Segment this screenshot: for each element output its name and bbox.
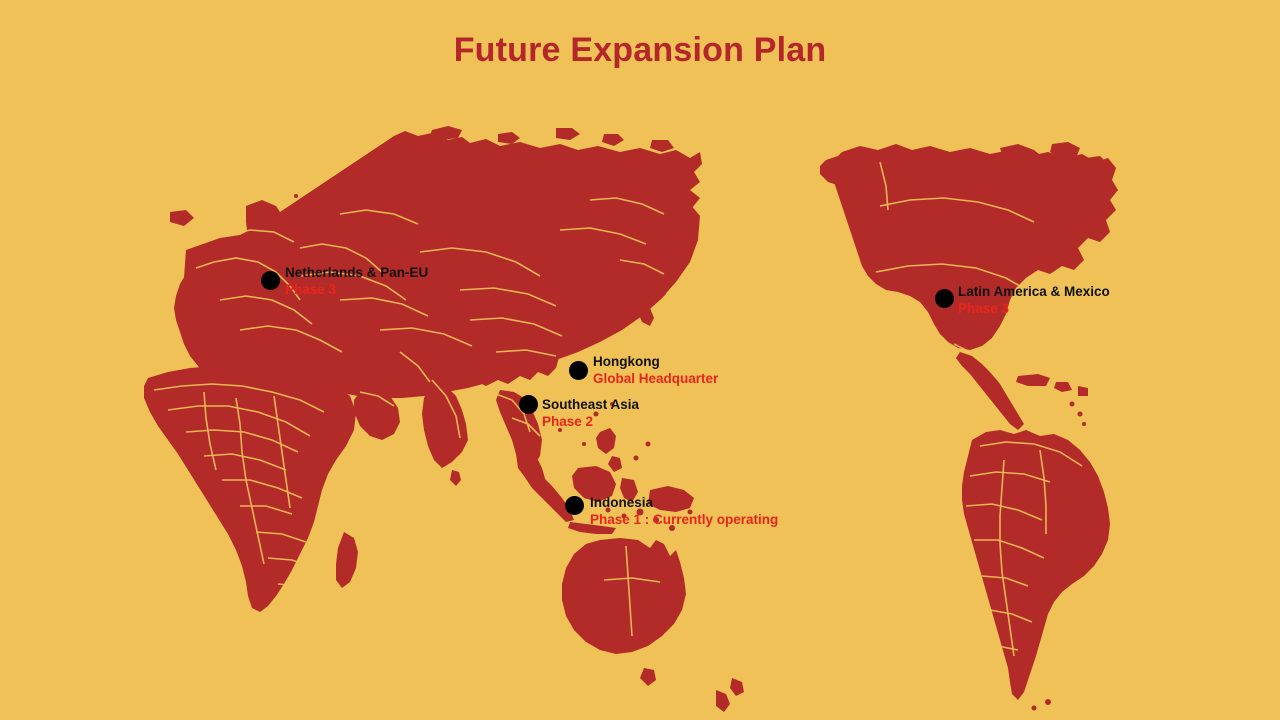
marker-sublabel: Phase 3 (285, 281, 428, 298)
marker-latin-america-mexico[interactable] (935, 289, 954, 308)
landmass-sumatra (524, 466, 574, 522)
marker-title: Indonesia (590, 494, 778, 511)
landmass-africa (144, 366, 356, 612)
island-dot (582, 442, 586, 446)
marker-label-southeast-asia: Southeast Asia Phase 2 (542, 396, 639, 430)
landmass-australia (562, 538, 686, 654)
marker-hongkong[interactable] (569, 361, 588, 380)
marker-netherlands-pan-eu[interactable] (261, 271, 280, 290)
marker-title: Netherlands & Pan-EU (285, 264, 428, 281)
landmass-newzealand (716, 678, 744, 712)
marker-label-hongkong: Hongkong Global Headquarter (593, 353, 718, 387)
marker-title: Southeast Asia (542, 396, 639, 413)
landmass-caribbean (1016, 374, 1088, 396)
island-dot (294, 194, 298, 198)
island-dot (386, 166, 390, 170)
island-dot (1070, 402, 1075, 407)
marker-sublabel: Global Headquarter (593, 370, 718, 387)
marker-label-latin-america-mexico: Latin America & Mexico Phase 3 (958, 283, 1110, 317)
marker-label-netherlands-pan-eu: Netherlands & Pan-EU Phase 3 (285, 264, 428, 298)
marker-title: Latin America & Mexico (958, 283, 1110, 300)
marker-sublabel: Phase 1 : Currently operating (590, 511, 778, 528)
island-dot (634, 456, 639, 461)
marker-sublabel: Phase 2 (542, 413, 639, 430)
landmass-central-america (956, 352, 1024, 430)
slide-canvas: Future Expansion Plan (0, 0, 1280, 720)
marker-sublabel: Phase 3 (958, 300, 1110, 317)
marker-indonesia[interactable] (565, 496, 584, 515)
marker-title: Hongkong (593, 353, 718, 370)
island-dot (1045, 699, 1051, 705)
island-dot (1082, 422, 1086, 426)
landmass-iceland (170, 210, 194, 226)
landmass-srilanka (450, 470, 461, 486)
marker-label-indonesia: Indonesia Phase 1 : Currently operating (590, 494, 778, 528)
landmass-tasmania (640, 668, 656, 686)
island-dot (1078, 412, 1083, 417)
landmass-madagascar (336, 532, 358, 588)
island-dot (646, 442, 651, 447)
landmass-south-america (962, 430, 1110, 700)
island-dot (416, 142, 420, 146)
island-dot (1032, 706, 1037, 711)
marker-southeast-asia[interactable] (519, 395, 538, 414)
landmass-philippines (596, 428, 622, 472)
